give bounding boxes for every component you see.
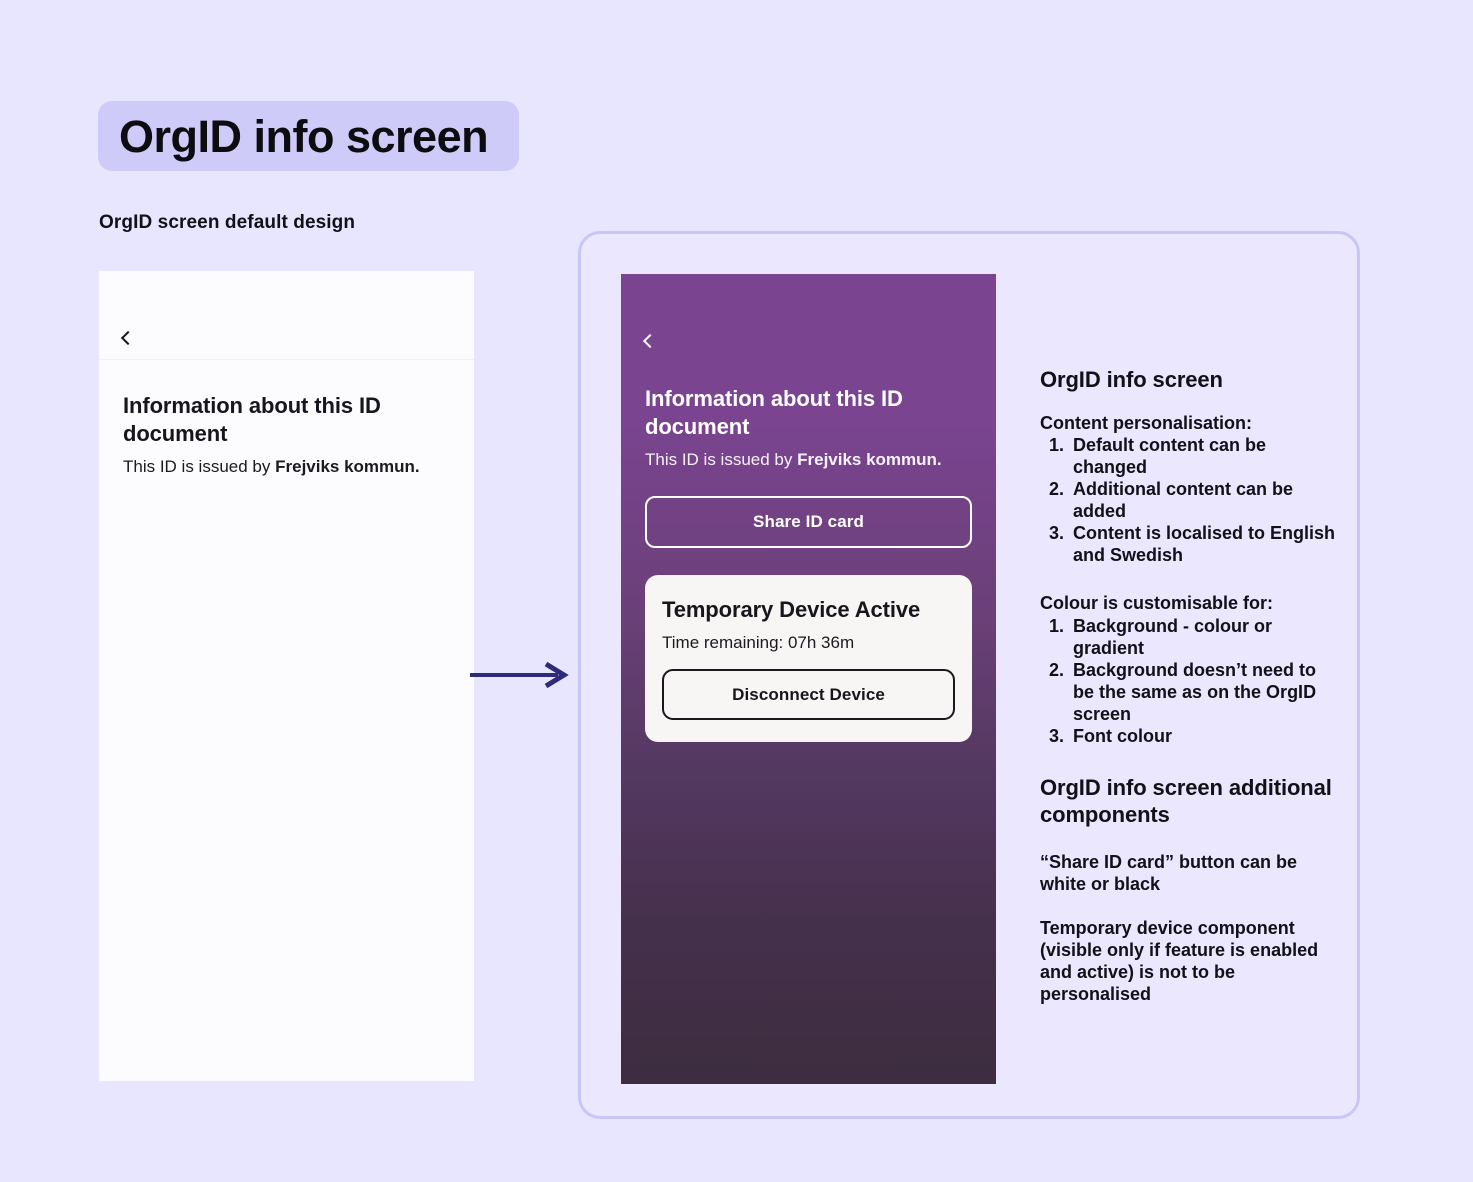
spec-panel: Information about this ID document This … <box>578 231 1360 1119</box>
colour-customisation-label: Colour is customisable for: <box>1040 593 1340 615</box>
temporary-device-card: Temporary Device Active Time remaining: … <box>645 575 972 742</box>
default-phone-topbar <box>99 271 474 360</box>
back-button-default[interactable] <box>113 323 143 353</box>
issuer-name-default: Frejviks kommun. <box>275 457 420 476</box>
colour-customisation-list: Background - colour or gradient Backgrou… <box>1040 616 1340 748</box>
content-personalisation-list: Default content can be changed Additiona… <box>1040 435 1340 567</box>
annotation-paragraph-2: Temporary device component (visible only… <box>1040 917 1340 1006</box>
disconnect-device-button[interactable]: Disconnect Device <box>662 669 955 720</box>
temporary-device-title: Temporary Device Active <box>662 597 955 623</box>
chevron-left-icon <box>643 334 657 348</box>
back-button-themed[interactable] <box>635 326 665 356</box>
annotation-paragraph-1: “Share ID card” button can be white or b… <box>1040 851 1340 895</box>
annotations-column: OrgID info screen Content personalisatio… <box>1040 366 1340 1006</box>
flow-arrow-icon <box>468 660 572 690</box>
list-item: Background - colour or gradient <box>1069 616 1340 660</box>
themed-phone-body: Information about this ID document This … <box>621 363 996 742</box>
page-title: OrgID info screen <box>119 114 488 159</box>
list-item: Content is localised to English and Swed… <box>1069 523 1340 567</box>
themed-phone-topbar <box>621 274 996 363</box>
list-item: Additional content can be added <box>1069 479 1340 523</box>
issuer-line-themed: This ID is issued by Frejviks kommun. <box>645 449 972 472</box>
page-title-badge: OrgID info screen <box>98 101 519 171</box>
annotation-heading-1: OrgID info screen <box>1040 366 1340 394</box>
annotation-heading-2: OrgID info screen additional components <box>1040 774 1340 829</box>
issuer-line-default: This ID is issued by Frejviks kommun. <box>123 456 450 479</box>
issuer-prefix-themed: This ID is issued by <box>645 450 797 469</box>
issuer-prefix-default: This ID is issued by <box>123 457 275 476</box>
chevron-left-icon <box>121 331 135 345</box>
section-label: OrgID screen default design <box>99 212 355 234</box>
info-heading-default: Information about this ID document <box>123 392 403 448</box>
themed-phone-mockup: Information about this ID document This … <box>621 274 996 1084</box>
share-id-card-button[interactable]: Share ID card <box>645 496 972 548</box>
issuer-name-themed: Frejviks kommun. <box>797 450 942 469</box>
list-item: Font colour <box>1069 726 1340 748</box>
list-item: Background doesn’t need to be the same a… <box>1069 660 1340 726</box>
default-phone-mockup: Information about this ID document This … <box>99 271 474 1081</box>
list-item: Default content can be changed <box>1069 435 1340 479</box>
default-phone-body: Information about this ID document This … <box>99 360 474 479</box>
content-personalisation-label: Content personalisation: <box>1040 413 1340 435</box>
info-heading-themed: Information about this ID document <box>645 385 925 441</box>
temporary-device-time-remaining: Time remaining: 07h 36m <box>662 633 955 653</box>
